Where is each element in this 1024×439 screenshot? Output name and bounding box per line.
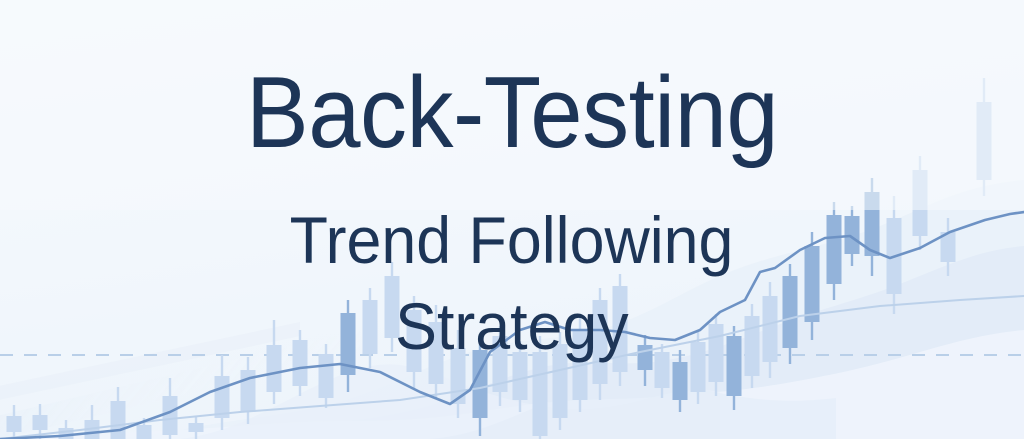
candle-body	[215, 376, 230, 418]
candle-body	[33, 415, 48, 430]
candle-body	[727, 336, 742, 396]
candle-body	[613, 286, 628, 372]
candle-body	[189, 423, 204, 432]
candle-body	[163, 396, 178, 435]
candle-body	[638, 345, 653, 370]
candle-body	[691, 342, 706, 392]
candlestick-chart-background	[0, 0, 1024, 439]
candle-body	[319, 354, 334, 398]
candle-body	[59, 428, 74, 439]
candle-body	[655, 352, 670, 388]
candle-body	[407, 310, 422, 372]
candle-body	[673, 362, 688, 400]
candle-body	[533, 352, 548, 436]
candle-body	[363, 300, 378, 354]
candle-body	[593, 300, 608, 384]
candle-body	[783, 276, 798, 348]
candle-body	[267, 345, 282, 392]
headline-scrim	[0, 0, 1024, 210]
candle-body	[137, 425, 152, 439]
candle-body	[805, 246, 820, 322]
candle-body	[7, 416, 22, 432]
candle-body	[553, 344, 568, 418]
candle-body	[709, 324, 724, 382]
candle-body	[111, 401, 126, 439]
candle-body	[385, 276, 400, 338]
candle-body	[293, 340, 308, 386]
candle-body	[513, 352, 528, 400]
candle-body	[827, 215, 842, 284]
candle-body	[763, 296, 778, 362]
candle-body	[429, 322, 444, 384]
banner-root: Back-Testing Trend Following Strategy	[0, 0, 1024, 439]
candle-body	[745, 316, 760, 376]
